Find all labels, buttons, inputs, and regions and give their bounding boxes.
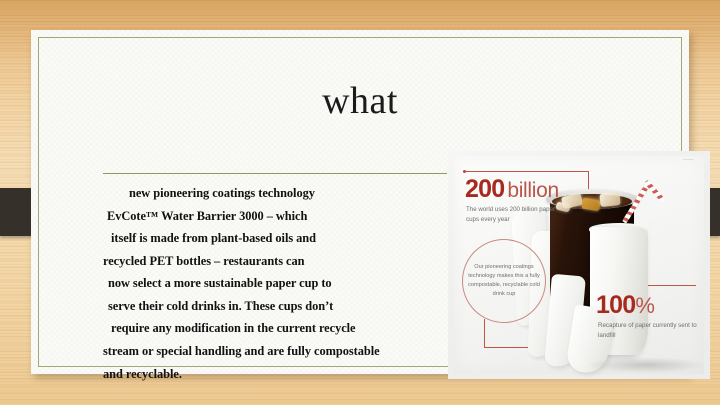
- slide-card: what new pioneering coatings technology …: [31, 30, 689, 374]
- body-line: and recyclable.: [103, 363, 451, 386]
- cup-shadow: [586, 357, 706, 373]
- infographic-image: ———: [448, 151, 710, 379]
- leader-line-circle-vertical: [484, 319, 485, 347]
- presentation-slide: what new pioneering coatings technology …: [0, 0, 720, 405]
- body-line: itself is made from plant-based oils and: [103, 227, 451, 250]
- corner-mark: ———: [683, 157, 694, 161]
- stat-200-caption: The world uses 200 billion paper cups ev…: [466, 205, 562, 224]
- circle-callout-text: Our pioneering coatings technology makes…: [464, 263, 544, 299]
- stat-100-percent: 100%: [596, 293, 654, 318]
- body-line: stream or special handling and are fully…: [103, 340, 451, 363]
- body-line: require any modification in the current …: [103, 317, 451, 340]
- body-line: now select a more sustainable paper cup …: [103, 272, 451, 295]
- body-line: serve their cold drinks in. These cups d…: [103, 295, 451, 318]
- leader-line-top-horizontal: [464, 171, 588, 172]
- stat-200-unit: billion: [507, 179, 559, 202]
- body-line: EvCote™ Water Barrier 3000 – which: [103, 205, 451, 228]
- body-line: recycled PET bottles – restaurants can: [103, 250, 451, 273]
- ice-cube: [599, 192, 620, 207]
- stat-100-unit: %: [635, 293, 654, 318]
- stat-200-number: 200: [465, 175, 504, 203]
- leader-dot-top-left: [463, 170, 466, 173]
- body-paragraph: new pioneering coatings technology EvCot…: [103, 182, 451, 385]
- stat-100-caption: Recapture of paper currently sent to lan…: [598, 321, 702, 340]
- title-divider-rule: [103, 173, 447, 174]
- stat-100-number: 100: [596, 291, 635, 319]
- stat-200-billion: 200billion: [465, 177, 559, 202]
- body-line: new pioneering coatings technology: [103, 182, 451, 205]
- straw-upper: [644, 180, 665, 203]
- page-title: what: [71, 82, 649, 120]
